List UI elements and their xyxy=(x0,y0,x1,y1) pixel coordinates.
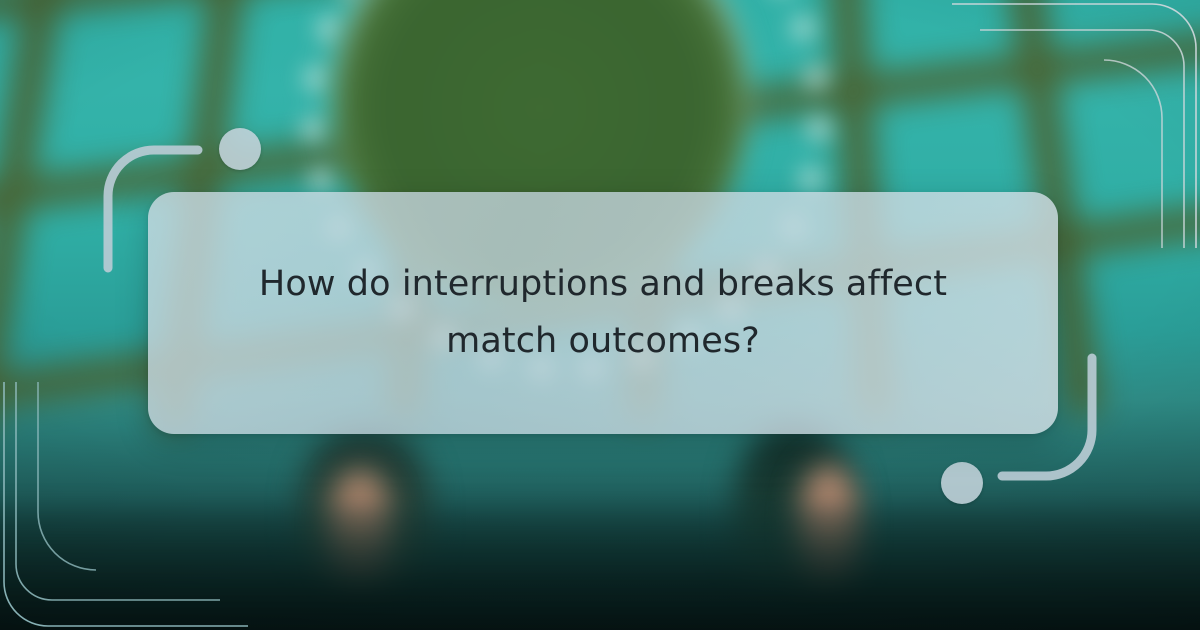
slide-canvas: How do interruptions and breaks affect m… xyxy=(0,0,1200,630)
question-text: How do interruptions and breaks affect m… xyxy=(210,256,996,369)
accent-dot-bottom-right xyxy=(941,462,983,504)
question-card: How do interruptions and breaks affect m… xyxy=(148,192,1058,434)
accent-dot-top-left xyxy=(219,128,261,170)
